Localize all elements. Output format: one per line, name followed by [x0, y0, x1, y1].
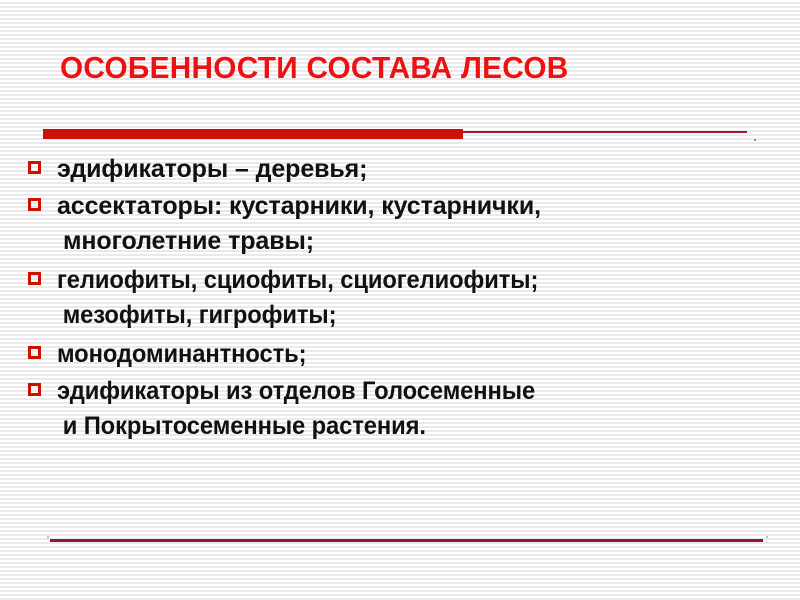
- list-item-line: эдификаторы – деревья;: [57, 155, 367, 183]
- list-item-line-continued: мезофиты, гигрофиты;: [57, 298, 755, 333]
- list-item-line-continued: и Покрытосеменные растения.: [57, 409, 755, 444]
- title-underline-divider: [0, 126, 800, 142]
- divider-thick-bar: [43, 129, 463, 139]
- hollow-square-bullet-icon: [28, 161, 41, 174]
- list-item-text: монодоминантность;: [57, 337, 763, 372]
- bottom-divider-right-dot: [766, 536, 768, 538]
- hollow-square-bullet-icon: [28, 346, 41, 359]
- list-item-line: гелиофиты, сциофиты, сциогелиофиты;: [57, 266, 538, 294]
- hollow-square-bullet-icon: [28, 383, 41, 396]
- list-item-line: монодоминантность;: [57, 340, 306, 368]
- page-title: ОСОБЕННОСТИ СОСТАВА ЛЕСОВ: [60, 48, 732, 88]
- list-item: монодоминантность;: [0, 337, 800, 372]
- hollow-square-bullet-icon: [28, 198, 41, 211]
- slide-canvas: ОСОБЕННОСТИ СОСТАВА ЛЕСОВ эдификаторы – …: [0, 0, 800, 600]
- list-item: эдификаторы – деревья;: [0, 152, 800, 187]
- list-item-text: эдификаторы из отделов Голосеменные и По…: [57, 374, 763, 444]
- list-item-text: гелиофиты, сциофиты, сциогелиофиты; мезо…: [57, 263, 763, 333]
- list-item: гелиофиты, сциофиты, сциогелиофиты; мезо…: [0, 263, 800, 333]
- list-item: эдификаторы из отделов Голосеменные и По…: [0, 374, 800, 444]
- divider-thin-rule: [463, 131, 747, 133]
- divider-end-dot: [754, 139, 756, 141]
- list-item: ассектаторы: кустарники, кустарнички, мн…: [0, 189, 800, 259]
- bottom-divider-left-dot: [47, 536, 49, 538]
- bullet-list: эдификаторы – деревья; ассектаторы: куст…: [0, 152, 800, 446]
- list-item-line: эдификаторы из отделов Голосеменные: [57, 377, 535, 405]
- hollow-square-bullet-icon: [28, 272, 41, 285]
- list-item-line: ассектаторы: кустарники, кустарнички,: [57, 192, 541, 220]
- list-item-text: эдификаторы – деревья;: [57, 152, 800, 187]
- list-item-text: ассектаторы: кустарники, кустарнички, мн…: [57, 189, 800, 259]
- bottom-divider-rule: [50, 539, 763, 542]
- list-item-line-continued: многолетние травы;: [57, 224, 792, 259]
